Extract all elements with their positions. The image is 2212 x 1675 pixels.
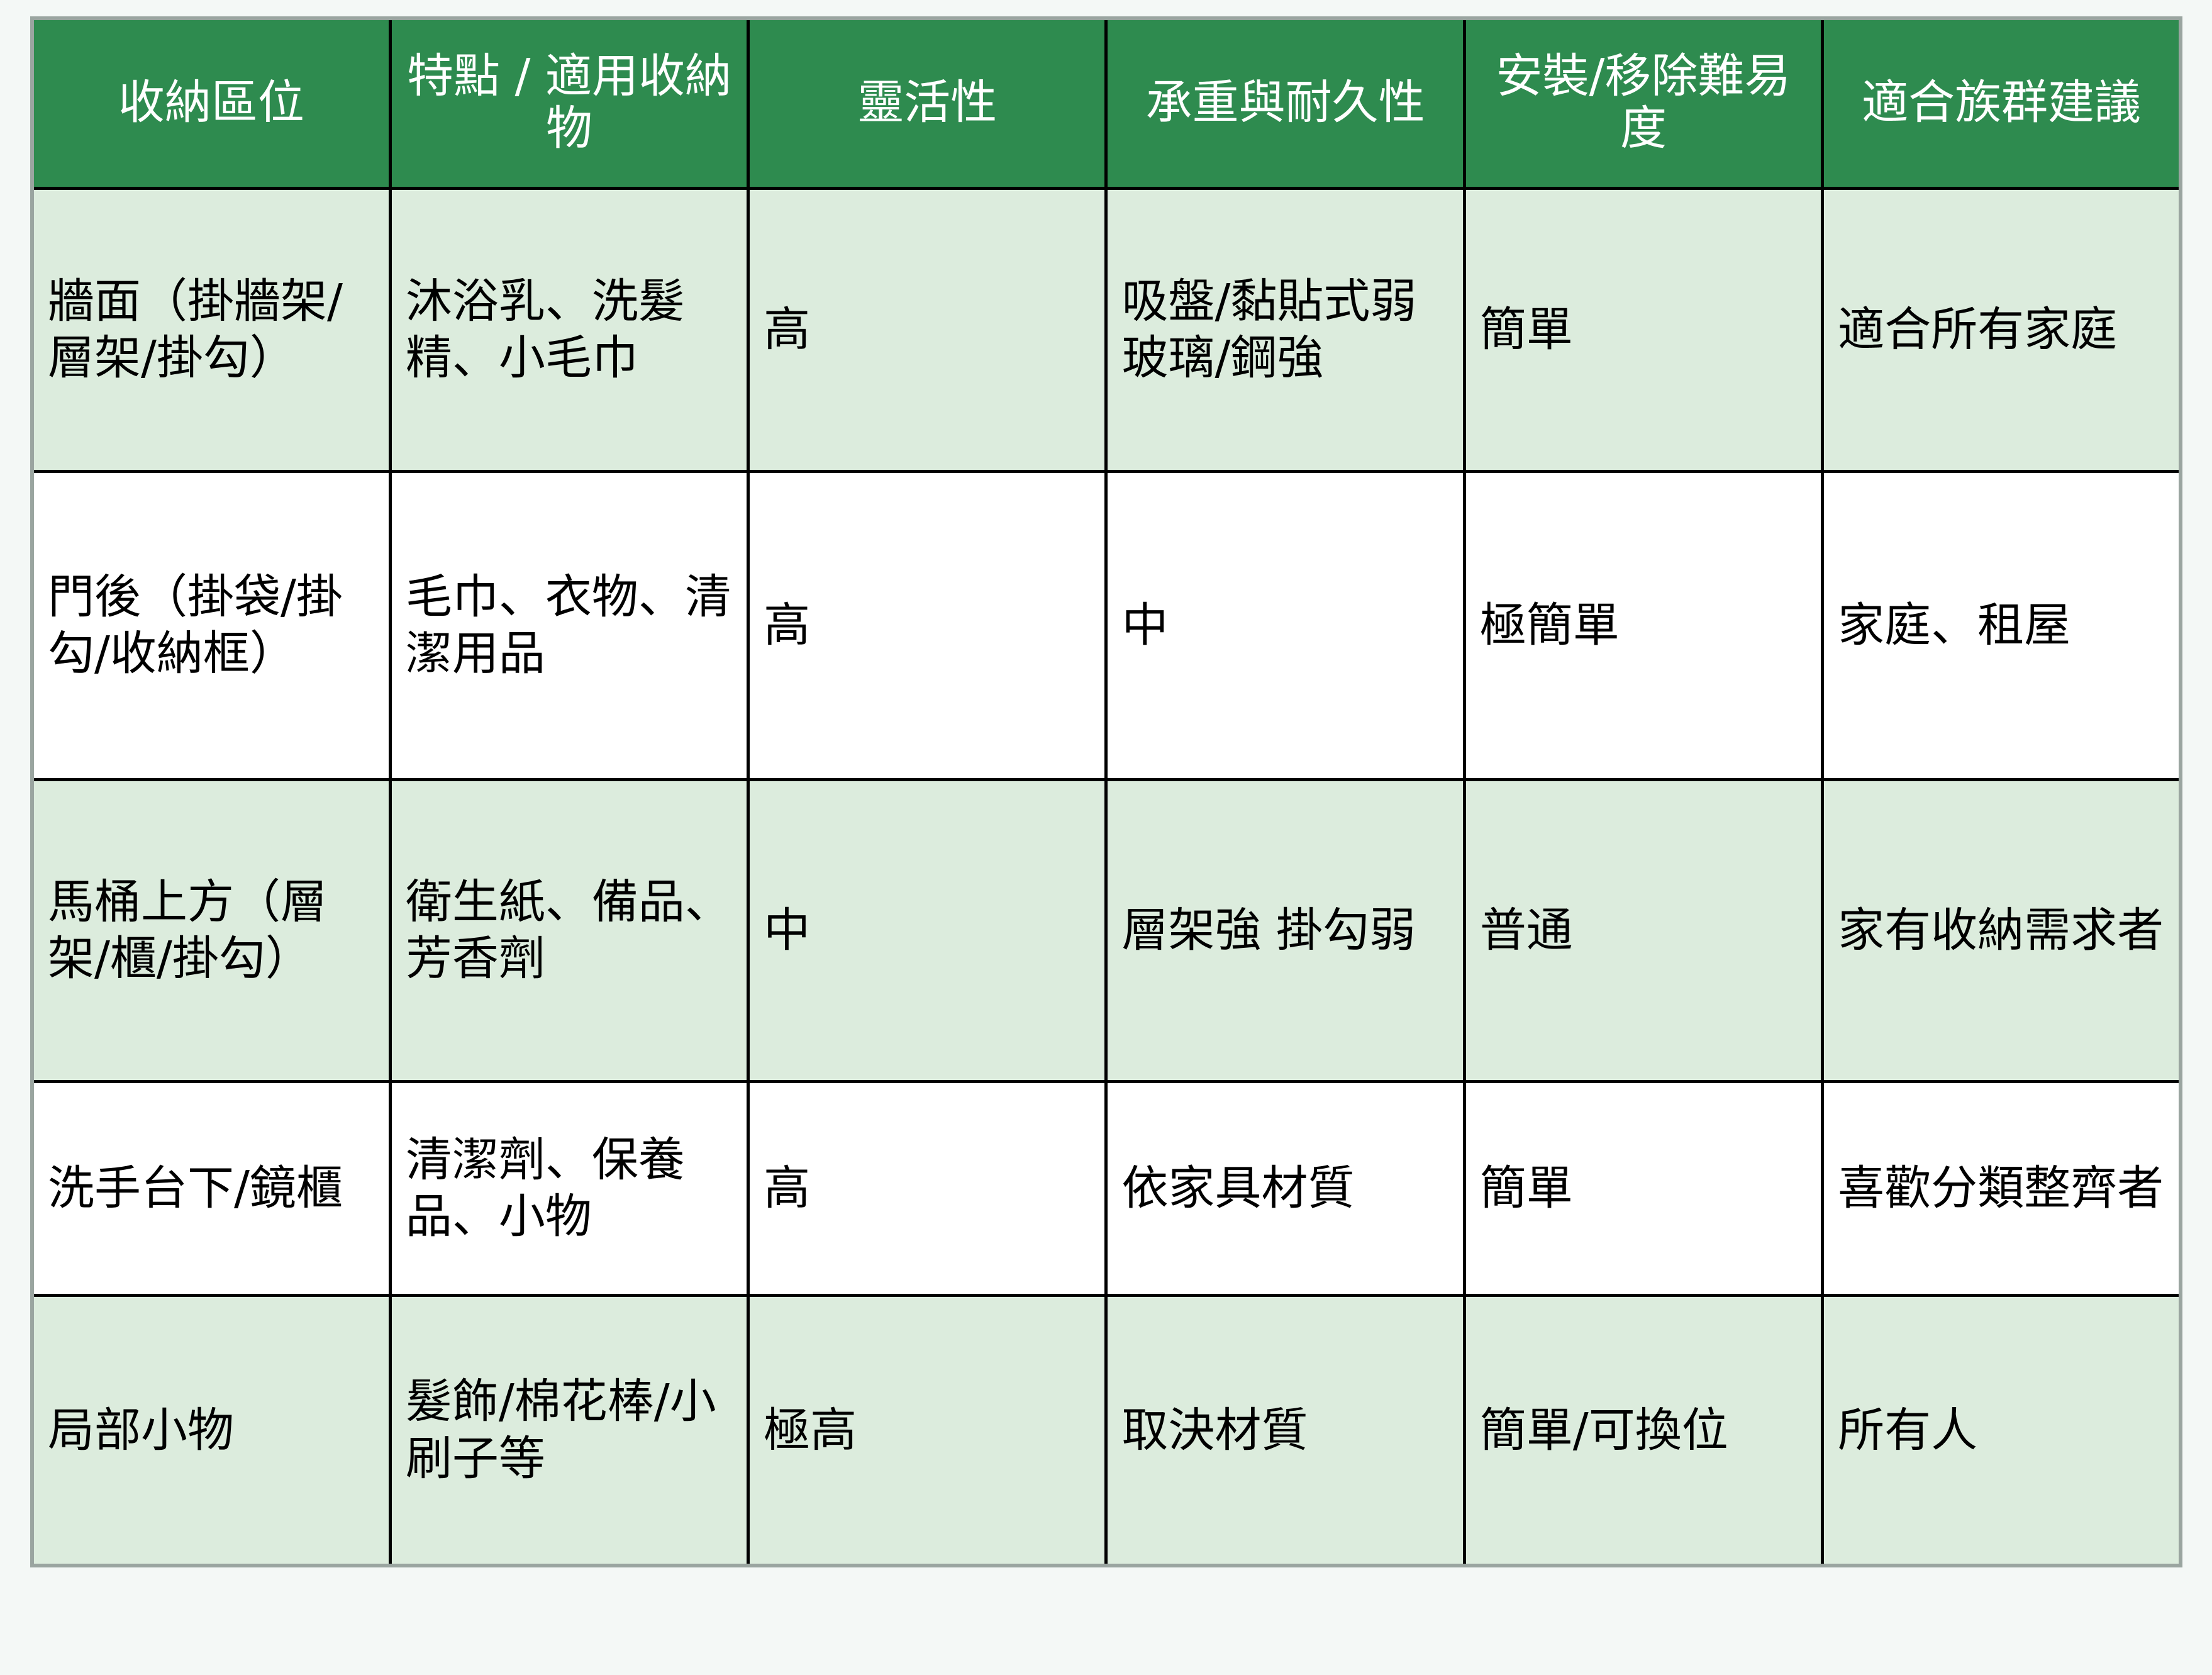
cell-flexibility: 高 xyxy=(748,188,1106,471)
cell-audience: 家有收納需求者 xyxy=(1823,779,2181,1081)
column-header-audience-label: 適合族群建議 xyxy=(1833,77,2170,129)
cell-audience: 適合所有家庭 xyxy=(1823,188,2181,471)
cell-durability: 吸盤/黏貼式弱 玻璃/鋼強 xyxy=(1106,188,1464,471)
table-row: 牆面（掛牆架/層架/掛勾） 沐浴乳、洗髮精、小毛巾 高 吸盤/黏貼式弱 玻璃/鋼… xyxy=(32,188,2181,471)
cell-audience: 所有人 xyxy=(1823,1295,2181,1566)
column-header-durability-label: 承重與耐久性 xyxy=(1116,77,1453,129)
column-header-audience: 適合族群建議 xyxy=(1823,18,2181,188)
header-row: 收納區位 特點 / 適用收納物 靈活性 承重與耐久性 安裝/移除難易度 適合族群… xyxy=(32,18,2181,188)
table-row: 局部小物 髮飾/棉花棒/小刷子等 極高 取決材質 簡單/可換位 所有人 xyxy=(32,1295,2181,1566)
cell-flexibility: 高 xyxy=(748,1081,1106,1295)
cell-difficulty: 極簡單 xyxy=(1464,471,1822,779)
cell-features: 沐浴乳、洗髮精、小毛巾 xyxy=(390,188,748,471)
column-header-features: 特點 / 適用收納物 xyxy=(390,18,748,188)
column-header-flexibility: 靈活性 xyxy=(748,18,1106,188)
column-header-features-label: 特點 / 適用收納物 xyxy=(401,50,738,155)
cell-flexibility: 中 xyxy=(748,779,1106,1081)
cell-zone: 洗手台下/鏡櫃 xyxy=(32,1081,390,1295)
cell-zone: 局部小物 xyxy=(32,1295,390,1566)
cell-difficulty: 簡單 xyxy=(1464,188,1822,471)
page-container: 收納區位 特點 / 適用收納物 靈活性 承重與耐久性 安裝/移除難易度 適合族群… xyxy=(0,0,2212,1675)
table-row: 洗手台下/鏡櫃 清潔劑、保養品、小物 高 依家具材質 簡單 喜歡分類整齊者 xyxy=(32,1081,2181,1295)
table-row: 門後（掛袋/掛勾/收納框） 毛巾、衣物、清潔用品 高 中 極簡單 家庭、租屋 xyxy=(32,471,2181,779)
column-header-zone-label: 收納區位 xyxy=(43,77,380,129)
column-header-zone: 收納區位 xyxy=(32,18,390,188)
cell-audience: 喜歡分類整齊者 xyxy=(1823,1081,2181,1295)
cell-features: 衛生紙、備品、芳香劑 xyxy=(390,779,748,1081)
cell-durability: 層架強 掛勾弱 xyxy=(1106,779,1464,1081)
cell-durability: 取決材質 xyxy=(1106,1295,1464,1566)
cell-features: 毛巾、衣物、清潔用品 xyxy=(390,471,748,779)
column-header-difficulty: 安裝/移除難易度 xyxy=(1464,18,1822,188)
column-header-flexibility-label: 靈活性 xyxy=(759,77,1096,129)
table-header: 收納區位 特點 / 適用收納物 靈活性 承重與耐久性 安裝/移除難易度 適合族群… xyxy=(32,18,2181,188)
cell-difficulty: 簡單/可換位 xyxy=(1464,1295,1822,1566)
cell-flexibility: 高 xyxy=(748,471,1106,779)
table-row: 馬桶上方（層架/櫃/掛勾） 衛生紙、備品、芳香劑 中 層架強 掛勾弱 普通 家有… xyxy=(32,779,2181,1081)
cell-features: 清潔劑、保養品、小物 xyxy=(390,1081,748,1295)
table-body: 牆面（掛牆架/層架/掛勾） 沐浴乳、洗髮精、小毛巾 高 吸盤/黏貼式弱 玻璃/鋼… xyxy=(32,188,2181,1566)
bathroom-storage-comparison-table: 收納區位 特點 / 適用收納物 靈活性 承重與耐久性 安裝/移除難易度 適合族群… xyxy=(30,16,2182,1567)
cell-difficulty: 普通 xyxy=(1464,779,1822,1081)
cell-flexibility: 極高 xyxy=(748,1295,1106,1566)
column-header-difficulty-label: 安裝/移除難易度 xyxy=(1475,50,1812,155)
cell-audience: 家庭、租屋 xyxy=(1823,471,2181,779)
cell-zone: 馬桶上方（層架/櫃/掛勾） xyxy=(32,779,390,1081)
column-header-durability: 承重與耐久性 xyxy=(1106,18,1464,188)
cell-durability: 依家具材質 xyxy=(1106,1081,1464,1295)
cell-zone: 牆面（掛牆架/層架/掛勾） xyxy=(32,188,390,471)
cell-features: 髮飾/棉花棒/小刷子等 xyxy=(390,1295,748,1566)
cell-zone: 門後（掛袋/掛勾/收納框） xyxy=(32,471,390,779)
cell-difficulty: 簡單 xyxy=(1464,1081,1822,1295)
cell-durability: 中 xyxy=(1106,471,1464,779)
